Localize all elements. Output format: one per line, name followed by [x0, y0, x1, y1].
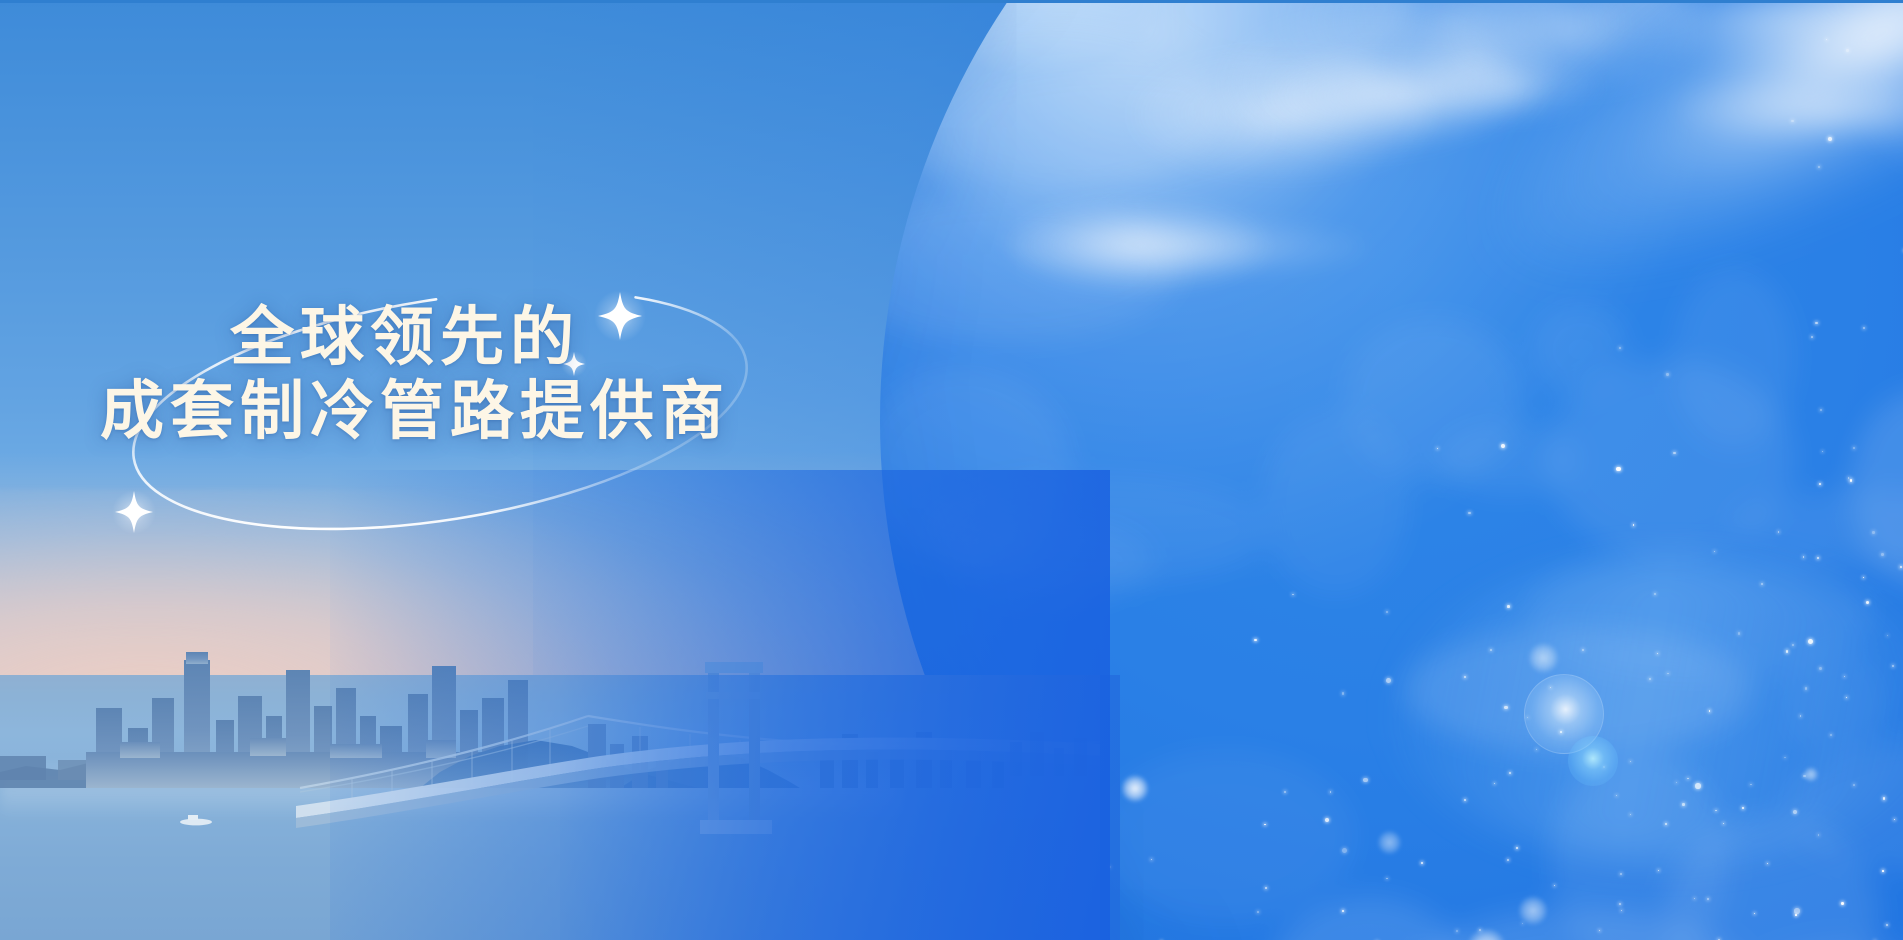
hero-banner: 全球领先的 成套制冷管路提供商 [0, 0, 1903, 940]
headline-block: 全球领先的 成套制冷管路提供商 [100, 300, 730, 448]
scene-blue-tint [330, 470, 1110, 940]
headline-line-1: 全球领先的 [230, 300, 730, 374]
headline-line-2: 成套制冷管路提供商 [100, 374, 730, 448]
top-edge-line [0, 0, 1903, 3]
